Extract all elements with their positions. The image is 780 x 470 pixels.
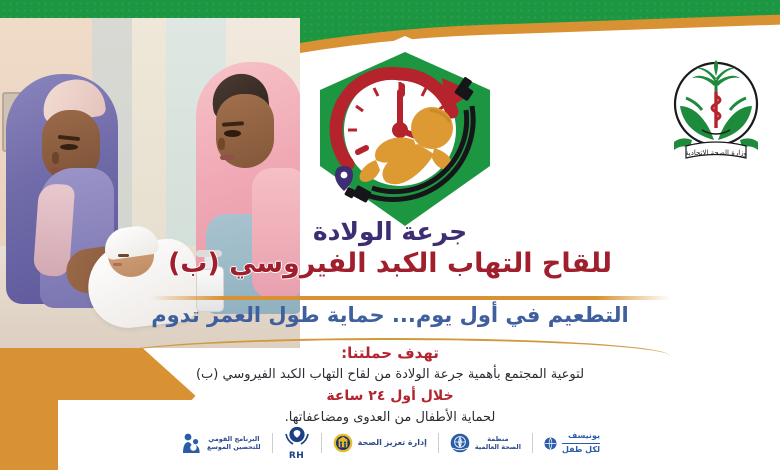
health-worker-nose [218,138,225,150]
campaign-slogan: التطعيم في أول يوم... حماية طول العمر تد… [0,302,780,328]
footer-divider [272,433,273,453]
ministry-logo-caption: وزارة الصحة الاتحادية [685,149,747,157]
nip-label-line-2: للتحصين الموسع [207,443,261,451]
campaign-goal-block: تهدف حملتنا: لتوعية المجتمع بأهمية جرعة … [0,342,780,428]
title-block: جرعة الولادة للقاح التهاب الكبد الفيروسي… [0,218,780,279]
unicef-label-line-2: لكل طفل [562,445,600,455]
mother-eye [60,144,78,150]
partner-logos-footer: يونيسف لكل طفل منظمة الصحة العالمية [0,422,780,464]
goal-line-1: لتوعية المجتمع بأهمية جرعة الولادة من لق… [0,365,780,386]
footer-divider [321,433,322,453]
nip-label-line-1: البرنامج القومي [207,435,261,443]
unicef-globe-icon [544,437,557,450]
health-promotion-directorate-logo: إدارة تعزيز الصحة [322,426,438,460]
gold-divider-rule [150,296,670,300]
emblem-artwork [314,48,496,230]
rh-emblem-icon [284,425,310,447]
health-promotion-icon [333,433,353,453]
mother-nose [52,152,59,164]
rh-label: RH [284,451,310,461]
health-worker-eye [224,130,241,137]
goal-timeframe: خلال أول ٢٤ ساعة [0,385,780,407]
title-line-1: جرعة الولادة [0,218,780,246]
unicef-label-line-1: يونيسف [562,431,600,441]
who-logo: منظمة الصحة العالمية [439,426,532,460]
national-expanded-immunization-program-logo: البرنامج القومي للتحصين الموسع [169,426,272,460]
who-label-line-1: منظمة [475,435,521,443]
health-worker-lips [220,155,235,160]
reproductive-health-logo: RH [273,426,321,460]
footer-divider [532,433,533,453]
campaign-poster: وزارة الصحة الاتحادية [0,0,780,470]
health-promotion-label: إدارة تعزيز الصحة [358,438,427,448]
who-label-line-2: الصحة العالمية [475,443,521,451]
unicef-rule [562,443,600,444]
unicef-logo: يونيسف لكل طفل [533,426,611,460]
title-line-2: للقاح التهاب الكبد الفيروسي (ب) [0,248,780,279]
mother-child-icon [180,432,202,454]
footer-divider [438,433,439,453]
who-emblem-icon [450,433,470,453]
clock-fetus-emblem [302,36,508,242]
goal-heading: تهدف حملتنا: [0,342,780,365]
sudan-federal-ministry-of-health-logo: وزارة الصحة الاتحادية [662,58,770,164]
